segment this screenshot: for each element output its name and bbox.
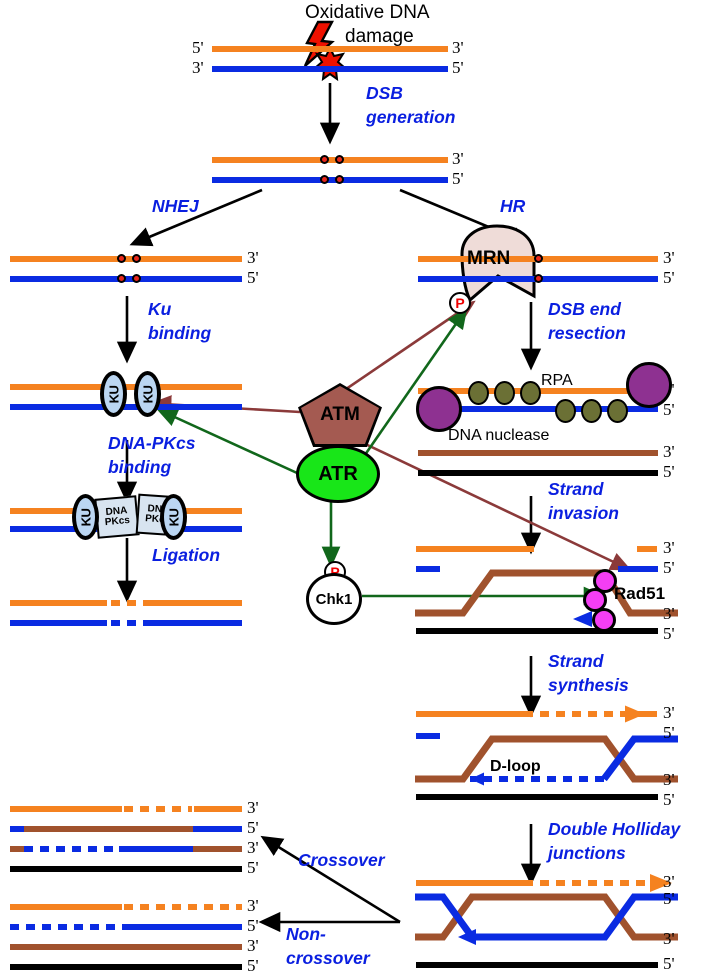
- label-strand-synthesis-2: synthesis: [548, 676, 629, 694]
- intact-right-3prime: 3': [452, 39, 464, 56]
- noncross-blue-solid: [122, 924, 242, 930]
- cross2-blue-dashed: [24, 846, 117, 852]
- dsb-right-5prime: 5': [452, 170, 464, 187]
- dna-nuclease-right: [626, 362, 672, 408]
- invasion-blue-arrowhead: [573, 611, 592, 627]
- intact-left-5prime: 5': [192, 39, 204, 56]
- invasion-3prime-bot: 3': [663, 605, 675, 622]
- nhej-ends-3prime: 3': [247, 249, 259, 266]
- cross-5prime-1: 5': [247, 819, 259, 836]
- cross-3prime-2: 3': [247, 839, 259, 856]
- label-strand-invasion-1: Strand: [548, 480, 603, 498]
- noncross-orange-solid: [10, 904, 122, 910]
- cross-3prime-1: 3': [247, 799, 259, 816]
- nhej-ends-5prime: 5': [247, 269, 259, 286]
- ku-label-left: KU: [106, 385, 121, 403]
- atm-protein: ATM: [301, 386, 379, 444]
- dhj-5prime-bot: 5': [663, 955, 675, 972]
- label-double-holliday-1: Double Holliday: [548, 820, 680, 838]
- rpa-oval-6: [607, 399, 628, 423]
- noncross-5prime-2: 5': [247, 957, 259, 974]
- cross2-brown-left: [10, 846, 24, 852]
- ligated-orange-right: [143, 600, 242, 606]
- cross-orange-dashed: [124, 806, 192, 812]
- damage-title-line1: Oxidative DNA: [305, 2, 430, 24]
- atm-label: ATM: [320, 404, 360, 426]
- dsb-break-dot-3: [320, 175, 329, 184]
- dnapkcs-left-l2: PKcs: [105, 516, 131, 528]
- cross-5prime-2: 5': [247, 859, 259, 876]
- chk1-protein: Chk1: [306, 573, 362, 625]
- synth-orange-stub: [637, 711, 657, 717]
- synth-3prime-top: 3': [663, 704, 675, 721]
- mrn-phospho-letter: P: [455, 295, 464, 311]
- resect-black-strand: [418, 470, 658, 476]
- synth-blue-stub: [416, 733, 440, 739]
- invasion-orange-stub: [637, 546, 657, 552]
- dna-nuclease-label: DNA nuclease: [448, 427, 549, 445]
- label-dsb-resection-2: resection: [548, 324, 626, 342]
- mrn-5prime: 5': [663, 269, 675, 286]
- ligated-orange-left: [10, 600, 107, 606]
- dhj-blue-strand: [415, 897, 678, 937]
- lesion-starburst-icon: [315, 48, 345, 79]
- dna-nuclease-left: [416, 386, 462, 432]
- ku-protein-pkcs-left: KU: [72, 494, 99, 540]
- label-double-holliday-2: junctions: [548, 844, 626, 862]
- label-ligation: Ligation: [152, 546, 220, 564]
- invasion-blue-strand: [618, 566, 658, 572]
- dsb-orange-strand: [212, 157, 448, 163]
- atr-label: ATR: [318, 463, 358, 486]
- ku-label-right: KU: [140, 385, 155, 403]
- label-strand-invasion-2: invasion: [548, 504, 619, 522]
- diagram-canvas: Oxidative DNA damage 5' 3' 3' 5' DSB gen…: [0, 0, 714, 975]
- label-strand-synthesis-1: Strand: [548, 652, 603, 670]
- intact-orange-strand: [212, 46, 448, 52]
- synth-5prime-top: 5': [663, 724, 675, 741]
- rpa-label: RPA: [541, 372, 573, 390]
- invasion-3prime-top: 3': [663, 539, 675, 556]
- label-hr: HR: [500, 197, 525, 215]
- dhj-5prime-top: 5': [663, 890, 675, 907]
- label-noncrossover-1: Non-: [286, 925, 326, 943]
- label-noncrossover-2: crossover: [286, 949, 370, 967]
- mrn-break-dot-2: [534, 274, 543, 283]
- label-ku-binding-2: binding: [148, 324, 211, 342]
- intact-blue-strand: [212, 66, 448, 72]
- resect-donor-3prime: 3': [663, 443, 675, 460]
- ligated-blue-left: [10, 620, 107, 626]
- dhj-brown-strand: [415, 897, 678, 937]
- rpa-oval-1: [468, 381, 489, 405]
- nhej-ends-blue-strand: [10, 276, 242, 282]
- nhej-ends-orange-strand: [10, 256, 242, 262]
- invasion-blue-stub: [416, 566, 440, 572]
- rpa-oval-3: [520, 381, 541, 405]
- mrn-break-dot-1: [534, 254, 543, 263]
- cross2-brown-right: [193, 846, 242, 852]
- synth-5prime-bot: 5': [663, 791, 675, 808]
- ligated-orange-gap: [111, 600, 139, 606]
- dnapkcs-left: DNA PKcs: [94, 495, 139, 539]
- ku-label-pkcs-right: KU: [166, 508, 181, 526]
- invasion-black-strand: [416, 628, 658, 634]
- noncross-5prime-1: 5': [247, 917, 259, 934]
- cross2-blue-solid: [119, 846, 195, 852]
- nhej-break-dot-3: [117, 274, 126, 283]
- dsb-right-3prime: 3': [452, 150, 464, 167]
- nhej-break-dot-2: [132, 254, 141, 263]
- ku-protein-right: KU: [134, 371, 161, 417]
- noncross-3prime-2: 3': [247, 937, 259, 954]
- noncross-orange-dashed: [124, 904, 242, 910]
- dsb-break-dot-1: [320, 155, 329, 164]
- nhej-break-dot-4: [132, 274, 141, 283]
- resect-5prime: 5': [663, 401, 675, 418]
- nhej-ku-blue-strand: [10, 404, 242, 410]
- cross-brown-mid: [24, 826, 195, 832]
- ligated-blue-gap: [111, 620, 139, 626]
- rpa-oval-5: [581, 399, 602, 423]
- label-dsb-generation-1: DSB: [366, 84, 403, 102]
- resect-brown-strand: [418, 450, 658, 456]
- rpa-oval-2: [494, 381, 515, 405]
- dhj-orange-strand: [416, 880, 526, 886]
- noncross-blue-dashed: [10, 924, 120, 930]
- label-ku-binding-1: Ku: [148, 300, 171, 318]
- cross-orange-solid-left: [10, 806, 122, 812]
- invasion-5prime-bot: 5': [663, 625, 675, 642]
- dhj-3prime-top: 3': [663, 873, 675, 890]
- nhej-break-dot-1: [117, 254, 126, 263]
- invasion-orange-strand: [416, 546, 534, 552]
- dsb-blue-strand: [212, 177, 448, 183]
- mrn-3prime: 3': [663, 249, 675, 266]
- mrn-label: MRN: [467, 248, 510, 270]
- dloop-label: D-loop: [490, 758, 541, 776]
- mrn-phospho-circle: P: [449, 292, 471, 314]
- ligated-blue-right: [143, 620, 242, 626]
- cross-blue-right: [193, 826, 242, 832]
- rad51-label: Rad51: [614, 584, 665, 604]
- rad51-circle-3: [592, 608, 616, 632]
- chk1-label: Chk1: [316, 591, 353, 608]
- label-dsb-generation-2: generation: [366, 108, 455, 126]
- synth-orange-strand: [416, 711, 526, 717]
- ku-label-pkcs-left: KU: [78, 508, 93, 526]
- label-dnapkcs-binding-2: binding: [108, 458, 171, 476]
- dsb-break-dot-4: [335, 175, 344, 184]
- damage-title-line2: damage: [345, 26, 414, 48]
- atr-protein: ATR: [296, 445, 380, 503]
- label-dsb-resection-1: DSB end: [548, 300, 621, 318]
- intact-right-5prime: 5': [452, 59, 464, 76]
- dsb-break-dot-2: [335, 155, 344, 164]
- label-dnapkcs-binding-1: DNA-PKcs: [108, 434, 196, 452]
- ku-protein-left: KU: [100, 371, 127, 417]
- lightning-bolt-icon: [305, 22, 332, 66]
- ku-protein-pkcs-right: KU: [160, 494, 187, 540]
- rpa-oval-4: [555, 399, 576, 423]
- invasion-5prime-top: 5': [663, 559, 675, 576]
- label-nhej: NHEJ: [152, 197, 199, 215]
- synth-3prime-bot: 3': [663, 771, 675, 788]
- synth-black-strand: [416, 794, 658, 800]
- noncross-brown-strand: [10, 944, 242, 950]
- noncross-3prime-1: 3': [247, 897, 259, 914]
- dhj-black-strand: [416, 962, 658, 968]
- noncross-black-strand: [10, 964, 242, 970]
- cross-black-strand: [10, 866, 242, 872]
- dloop-brown-strand: [415, 739, 678, 779]
- label-crossover: Crossover: [298, 851, 385, 869]
- dhj-3prime-bot: 3': [663, 930, 675, 947]
- resect-donor-5prime: 5': [663, 463, 675, 480]
- intact-left-3prime: 3': [192, 59, 204, 76]
- cross-orange-solid-right: [194, 806, 242, 812]
